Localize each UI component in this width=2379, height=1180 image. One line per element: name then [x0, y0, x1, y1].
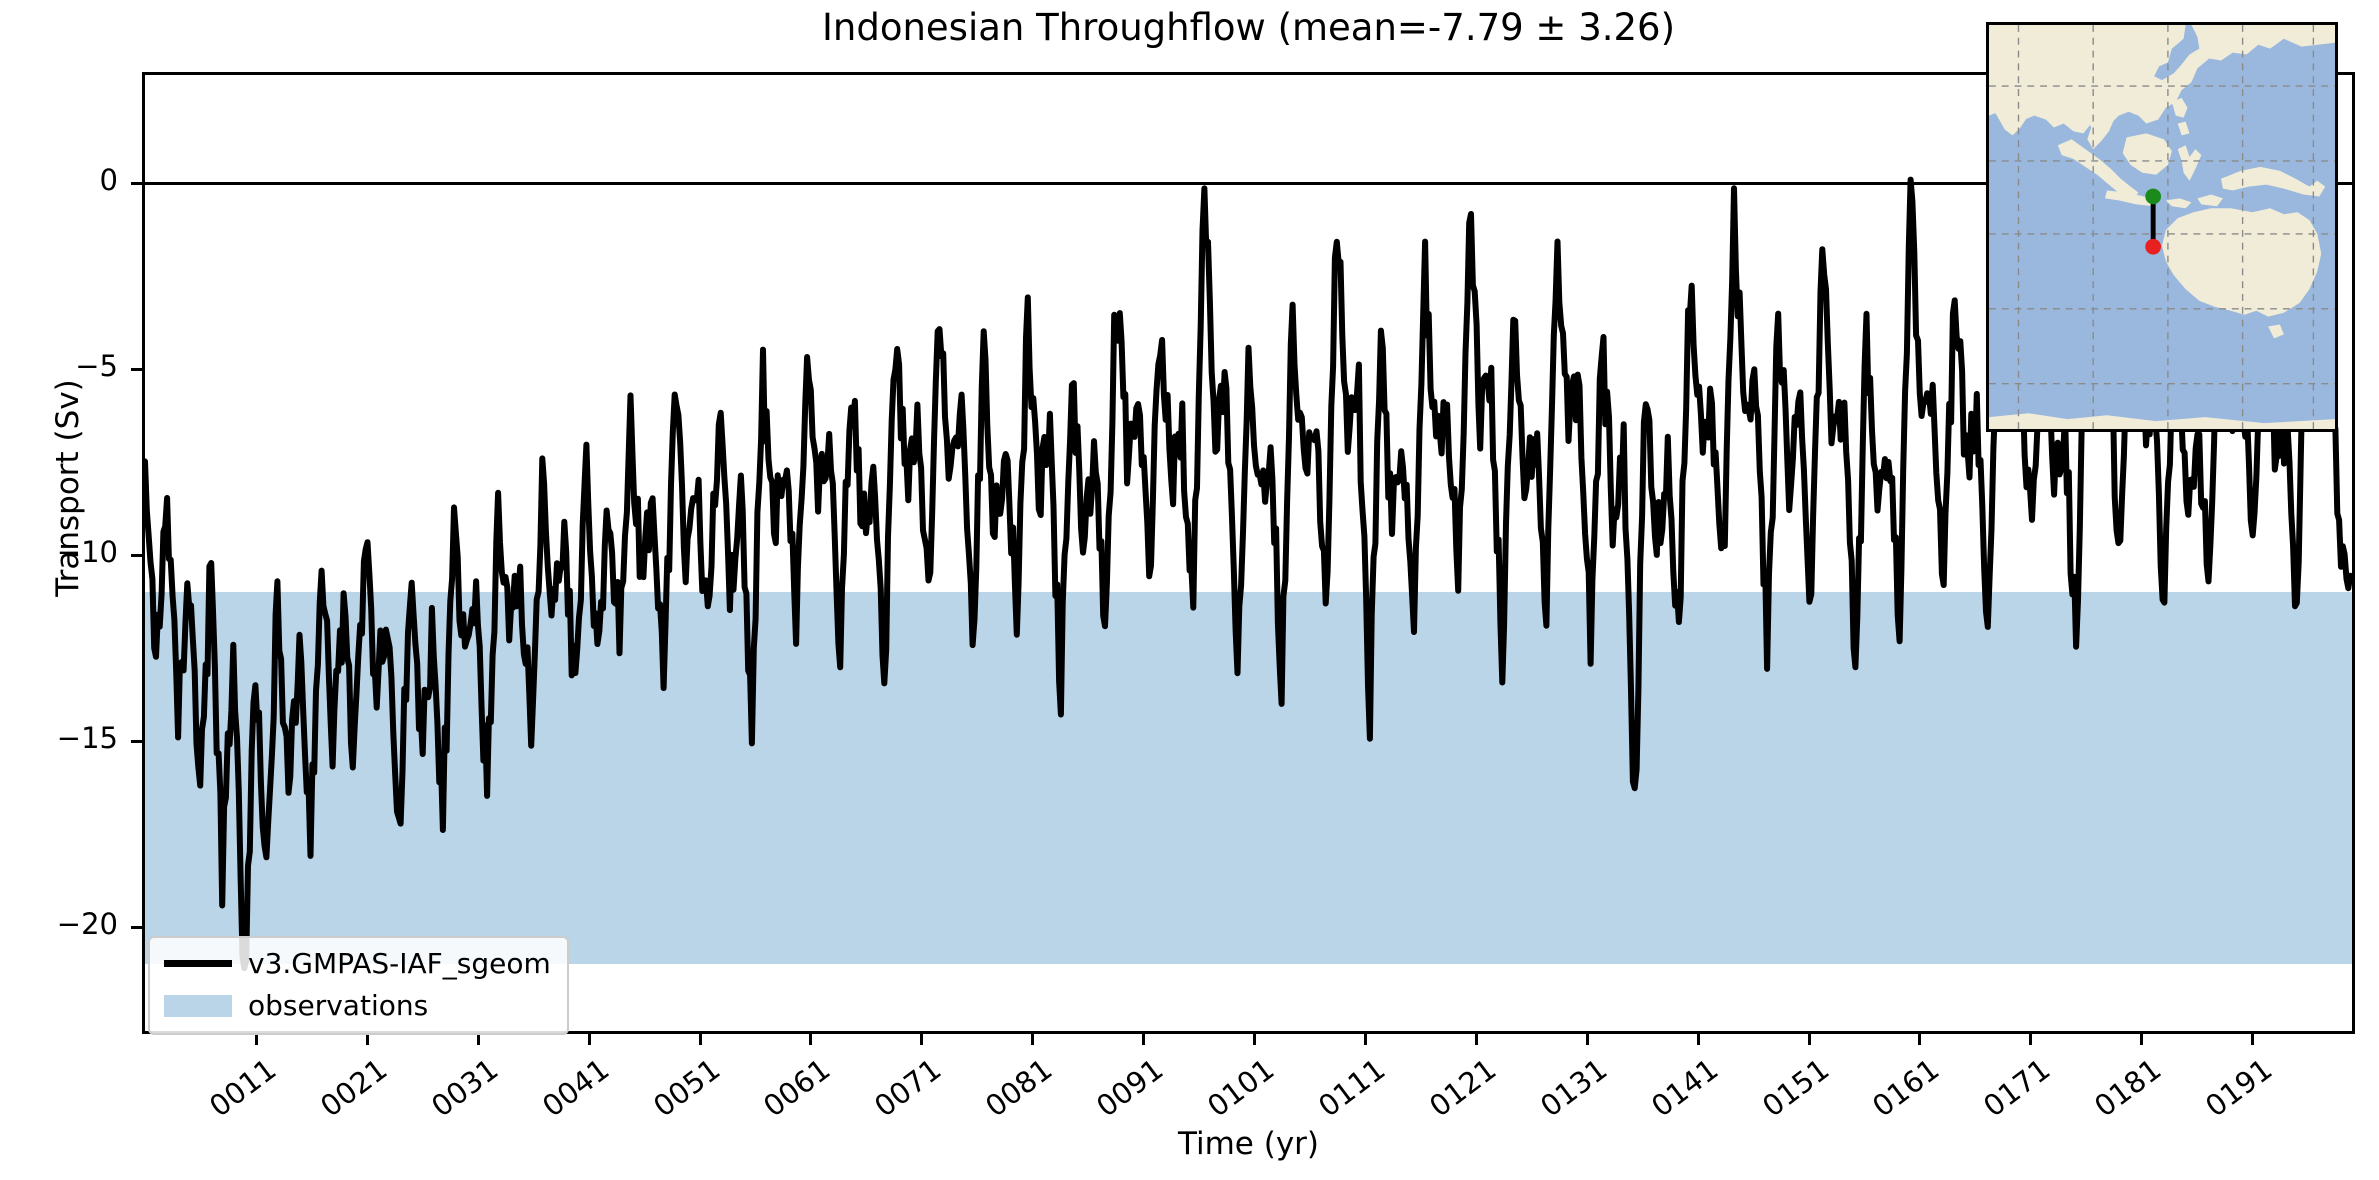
- x-tick-mark: [255, 1034, 258, 1045]
- legend-label-series: v3.GMPAS-IAF_sgeom: [248, 947, 551, 980]
- x-tick-mark: [588, 1034, 591, 1045]
- y-tick-label: −15: [0, 721, 118, 755]
- x-axis-label: Time (yr): [142, 1126, 2355, 1162]
- x-tick-mark: [477, 1034, 480, 1045]
- legend-patch-swatch-icon: [164, 995, 232, 1017]
- x-tick-mark: [1253, 1034, 1256, 1045]
- legend-item-observations[interactable]: observations: [164, 989, 551, 1022]
- x-tick-mark: [1364, 1034, 1367, 1045]
- y-axis-label: Transport (Sv): [50, 278, 86, 698]
- x-tick-mark: [1808, 1034, 1811, 1045]
- x-tick-mark: [1586, 1034, 1589, 1045]
- inset-map-graphic: [1989, 25, 2335, 429]
- legend-label-observations: observations: [248, 989, 428, 1022]
- legend: v3.GMPAS-IAF_sgeom observations: [148, 936, 569, 1035]
- x-tick-mark: [1918, 1034, 1921, 1045]
- x-tick-mark: [366, 1034, 369, 1045]
- x-tick-mark: [809, 1034, 812, 1045]
- x-tick-mark: [2251, 1034, 2254, 1045]
- y-tick-mark: [131, 740, 142, 743]
- x-tick-mark: [2029, 1034, 2032, 1045]
- x-tick-mark: [699, 1034, 702, 1045]
- x-tick-mark: [1475, 1034, 1478, 1045]
- x-tick-mark: [1142, 1034, 1145, 1045]
- legend-line-swatch-icon: [164, 960, 232, 967]
- y-tick-mark: [131, 182, 142, 185]
- green-start-point-icon: [2145, 189, 2161, 205]
- y-tick-mark: [131, 368, 142, 371]
- x-tick-mark: [1031, 1034, 1034, 1045]
- figure-canvas: Indonesian Throughflow (mean=-7.79 ± 3.2…: [0, 0, 2379, 1180]
- legend-item-series[interactable]: v3.GMPAS-IAF_sgeom: [164, 947, 551, 980]
- x-tick-mark: [920, 1034, 923, 1045]
- y-tick-label: −20: [0, 907, 118, 941]
- red-end-point-icon: [2145, 239, 2161, 255]
- transect-location-map: [1986, 22, 2338, 432]
- x-tick-mark: [2140, 1034, 2143, 1045]
- x-tick-mark: [1697, 1034, 1700, 1045]
- y-tick-label: 0: [0, 163, 118, 197]
- y-tick-mark: [131, 554, 142, 557]
- y-tick-mark: [131, 926, 142, 929]
